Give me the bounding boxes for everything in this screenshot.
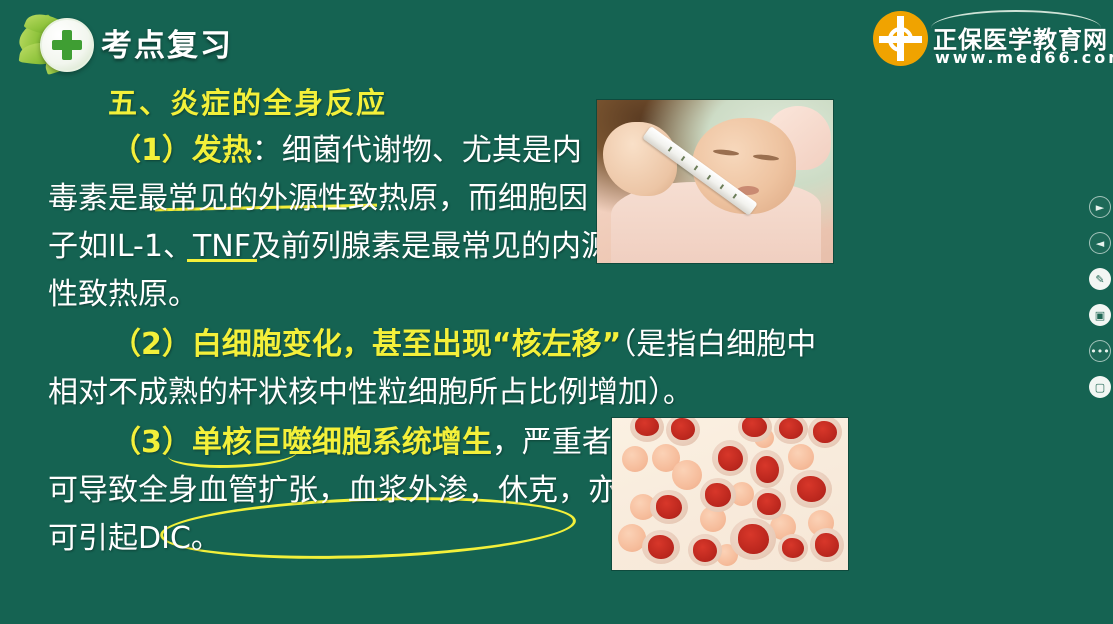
screen-tool-button[interactable]: ▢	[1089, 376, 1111, 398]
more-dots-icon: •••	[1090, 346, 1109, 357]
more-options-button[interactable]: •••	[1089, 340, 1111, 362]
player-toolbar[interactable]: ► ◄ ✎ ▣ ••• ▢	[1087, 196, 1113, 412]
pen-tool-button[interactable]: ✎	[1089, 268, 1111, 290]
orange-circle-cross-emblem-icon	[873, 11, 928, 66]
paragraph-line-2: 毒素是最常见的外源性致热原，而细胞因	[48, 184, 588, 214]
line-5-highlight: （2）白细胞变化，甚至出现“核左移”	[111, 327, 621, 362]
image-tool-button[interactable]: ▣	[1089, 304, 1111, 326]
play-previous-icon: ◄	[1096, 238, 1104, 249]
line-7-rest: ，严重者	[492, 425, 612, 460]
lecture-slide: 考点复习 正保医学教育网 www.med66.com 五、炎症的全身反应 （1）…	[0, 0, 1113, 624]
line-7-highlight: （3）单核巨噬细胞系统增生	[111, 425, 492, 460]
line-5-rest: （是指白细胞中	[621, 327, 816, 362]
site-logo: 正保医学教育网 www.med66.com	[869, 8, 1105, 70]
cross-badge-icon	[40, 18, 94, 72]
line-1-rest: ：细菌代谢物、尤其是内	[252, 133, 582, 168]
image-icon: ▣	[1095, 310, 1105, 321]
paragraph-line-5: （2）白细胞变化，甚至出现“核左移”（是指白细胞中	[111, 330, 816, 360]
medical-cross-leaf-logo-icon	[14, 10, 102, 78]
medical-cross-icon	[42, 20, 92, 70]
baby-thermometer-photo	[597, 100, 833, 263]
paragraph-line-4: 性致热原。	[48, 280, 198, 310]
paragraph-line-9: 可引起DIC。	[48, 524, 221, 554]
slide-header: 考点复习 正保医学教育网 www.med66.com	[0, 0, 1113, 84]
page-title: 考点复习	[101, 20, 233, 65]
paragraph-line-7: （3）单核巨噬细胞系统增生，严重者	[111, 428, 612, 458]
next-button[interactable]: ►	[1089, 196, 1111, 218]
blood-smear-photo	[612, 418, 848, 570]
line-1-highlight: （1）发热	[111, 133, 252, 168]
previous-button[interactable]: ◄	[1089, 232, 1111, 254]
play-next-icon: ►	[1096, 202, 1104, 213]
site-logo-url: www.med66.com	[935, 48, 1113, 67]
screen-icon: ▢	[1095, 382, 1105, 393]
section-heading: 五、炎症的全身反应	[108, 89, 387, 118]
pen-icon: ✎	[1095, 274, 1104, 285]
paragraph-line-8: 可导致全身血管扩张，血浆外渗，休克，亦	[48, 476, 618, 506]
paragraph-line-6: 相对不成熟的杆状核中性粒细胞所占比例增加）。	[48, 378, 693, 408]
paragraph-line-1: （1）发热：细菌代谢物、尤其是内	[111, 136, 582, 166]
paragraph-line-3: 子如IL-1、TNF及前列腺素是最常见的内源	[48, 232, 611, 262]
